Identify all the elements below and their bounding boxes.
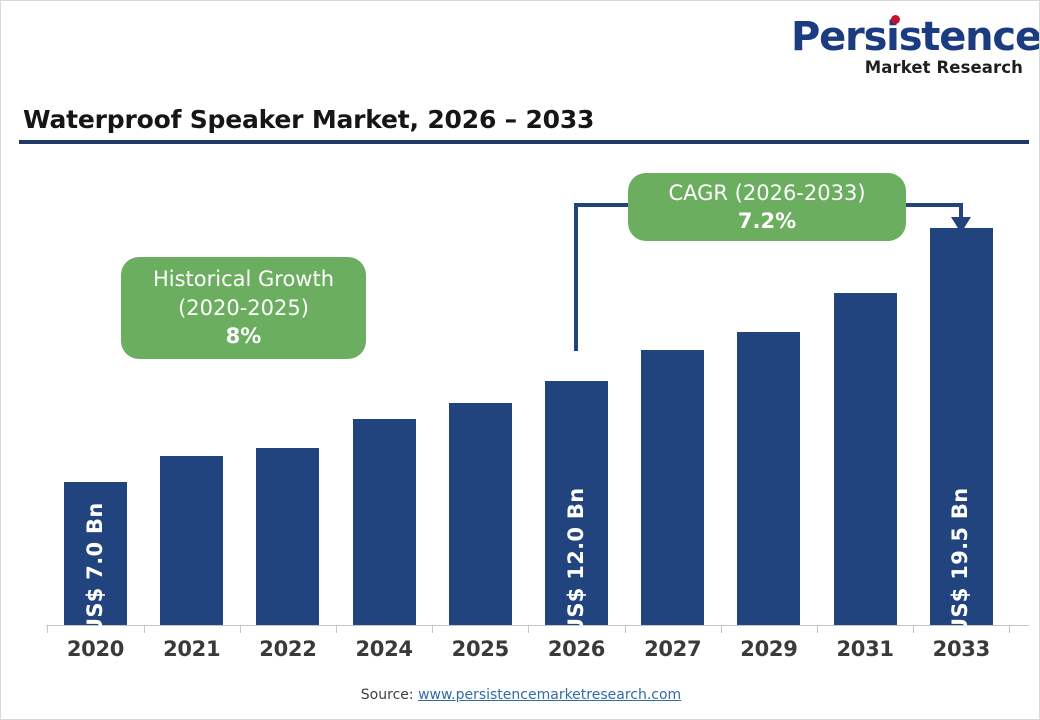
x-axis-line [46, 625, 1029, 626]
x-tick-2031: 2031 [817, 637, 913, 661]
callout-historical-line2: (2020-2025) [178, 294, 309, 322]
callout-cagr-value: 7.2% [738, 207, 796, 235]
x-tick-2033: 2033 [913, 637, 1009, 661]
x-tick-mark-2022 [240, 625, 241, 633]
bar-2031 [834, 293, 897, 625]
source-prefix: Source: [361, 687, 418, 703]
x-tick-mark-2026 [528, 625, 529, 633]
bar-value-label-2033: US$ 19.5 Bn [948, 488, 972, 635]
bar-value-label-2026: US$ 12.0 Bn [564, 488, 588, 635]
x-tick-mark-2020 [47, 625, 48, 633]
x-tick-2024: 2024 [336, 637, 432, 661]
x-tick-mark-2025 [432, 625, 433, 633]
callout-cagr-line1: CAGR (2026-2033) [668, 179, 865, 207]
x-tick-2021: 2021 [144, 637, 240, 661]
x-tick-2029: 2029 [721, 637, 817, 661]
x-tick-mark-2027 [625, 625, 626, 633]
x-tick-mark-2021 [144, 625, 145, 633]
x-tick-2020: 2020 [48, 637, 144, 661]
callout-historical-line1: Historical Growth [153, 265, 334, 293]
x-tick-mark-2031 [817, 625, 818, 633]
x-tick-2022: 2022 [240, 637, 336, 661]
x-tick-mark-2024 [336, 625, 337, 633]
bar-value-label-2020: US$ 7.0 Bn [83, 502, 107, 635]
bar-2027 [641, 350, 704, 625]
bar-2021 [160, 456, 223, 625]
bar-2029 [737, 332, 800, 625]
bar-2022 [256, 448, 319, 625]
x-tick-2027: 2027 [625, 637, 721, 661]
source-footer: Source: www.persistencemarketresearch.co… [1, 687, 1040, 703]
x-tick-2026: 2026 [529, 637, 625, 661]
chart-page: Persistence Market Research Waterproof S… [0, 0, 1040, 720]
chart-plot-area: US$ 7.0 Bn20202021202220242025US$ 12.0 B… [1, 1, 1040, 720]
x-tick-mark-end [1009, 625, 1010, 633]
x-tick-2025: 2025 [432, 637, 528, 661]
callout-cagr: CAGR (2026-2033) 7.2% [628, 173, 906, 241]
callout-historical-growth: Historical Growth (2020-2025) 8% [121, 257, 366, 359]
source-link[interactable]: www.persistencemarketresearch.com [418, 687, 681, 703]
bar-2024 [353, 419, 416, 625]
callout-historical-value: 8% [226, 322, 262, 350]
x-tick-mark-2033 [913, 625, 914, 633]
x-tick-mark-2029 [721, 625, 722, 633]
bar-2025 [449, 403, 512, 625]
